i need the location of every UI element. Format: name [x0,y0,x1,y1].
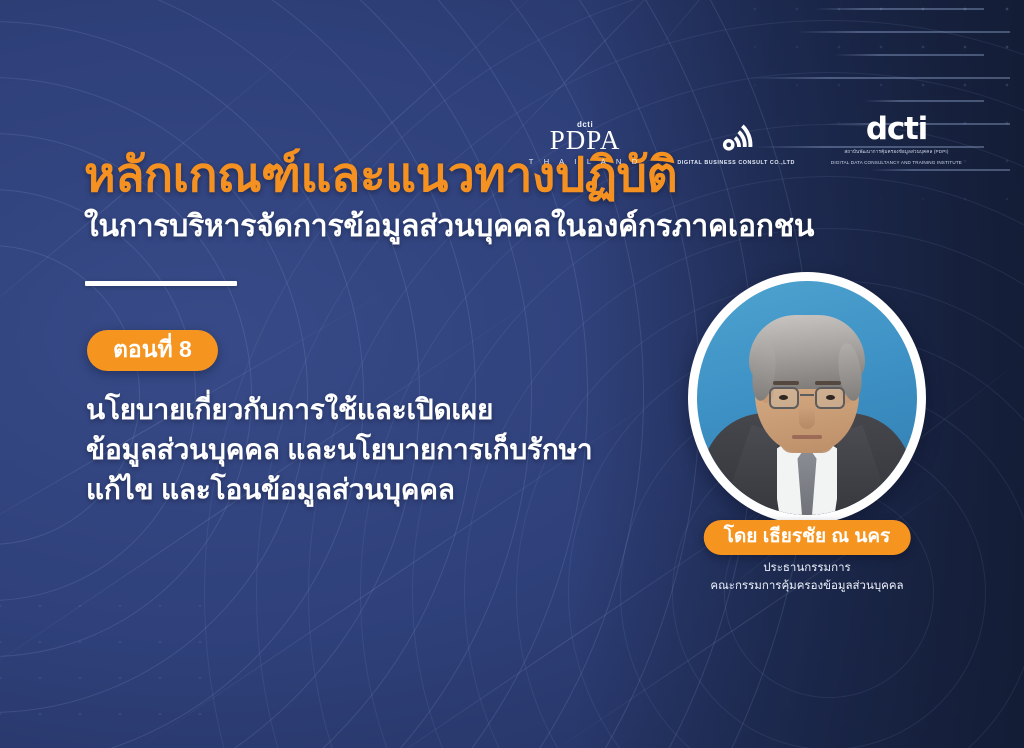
dbc-company-label: DIGITAL BUSINESS CONSULT CO.,LTD [677,160,795,166]
digital-business-consult-logo: DIGITAL BUSINESS CONSULT CO.,LTD [677,123,795,166]
portrait-mouth [792,435,822,439]
pdpa-country-label: T H A I L A N D [529,157,642,166]
speaker-name-badge: โดย เธียรชัย ณ นคร [704,520,911,555]
speaker-role-line-2: คณะกรรมการคุ้มครองข้อมูลส่วนบุคคล [710,578,903,596]
dcti-institute-label-th: สถาบันพัฒนาการคุ้มครองข้อมูลส่วนบุคคล (P… [844,149,948,156]
presentation-slide: dcti PDPA T H A I L A N D DIGITAL BUSINE… [0,0,1024,748]
title-divider [85,281,237,286]
dcti-logo: dcti สถาบันพัฒนาการคุ้มครองข้อมูลส่วนบุค… [831,114,962,166]
portrait-eyeglass-bridge [800,394,814,396]
speaker-role-block: ประธานกรรมการ คณะกรรมการคุ้มครองข้อมูลส่… [710,560,903,596]
episode-description: นโยบายเกี่ยวกับการใช้และเปิดเผย ข้อมูลส่… [86,390,592,509]
pdpa-thailand-logo: dcti PDPA T H A I L A N D [529,121,642,167]
portrait-eye-right [826,395,835,400]
portrait-eyebrow-right [815,381,841,385]
logo-row: dcti PDPA T H A I L A N D DIGITAL BUSINE… [529,114,962,166]
dcti-wordmark: dcti [866,114,927,145]
portrait-nose [799,407,815,429]
dcti-institute-label-en: DIGITAL DATA CONSULTANCY AND TRAINING IN… [831,160,962,167]
pdpa-wordmark: PDPA [550,127,621,155]
portrait-eyebrow-left [773,381,799,385]
portrait-eye-left [779,395,788,400]
speaker-portrait [697,281,917,515]
speaker-role-line-1: ประธานกรรมการ [710,560,903,578]
wifi-signal-icon [718,123,754,155]
page-subtitle: ในการบริหารจัดการข้อมูลส่วนบุคคลในองค์กร… [84,210,814,244]
speaker-photo-frame [688,272,926,524]
episode-description-line-3: แก้ไข และโอนข้อมูลส่วนบุคคล [86,470,592,510]
episode-description-line-2: ข้อมูลส่วนบุคคล และนโยบายการเก็บรักษา [86,430,592,470]
episode-description-line-1: นโยบายเกี่ยวกับการใช้และเปิดเผย [86,390,592,430]
speaker-block: โดย เธียรชัย ณ นคร ประธานกรรมการ คณะกรรม… [676,272,938,524]
episode-badge: ตอนที่ 8 [87,330,218,371]
